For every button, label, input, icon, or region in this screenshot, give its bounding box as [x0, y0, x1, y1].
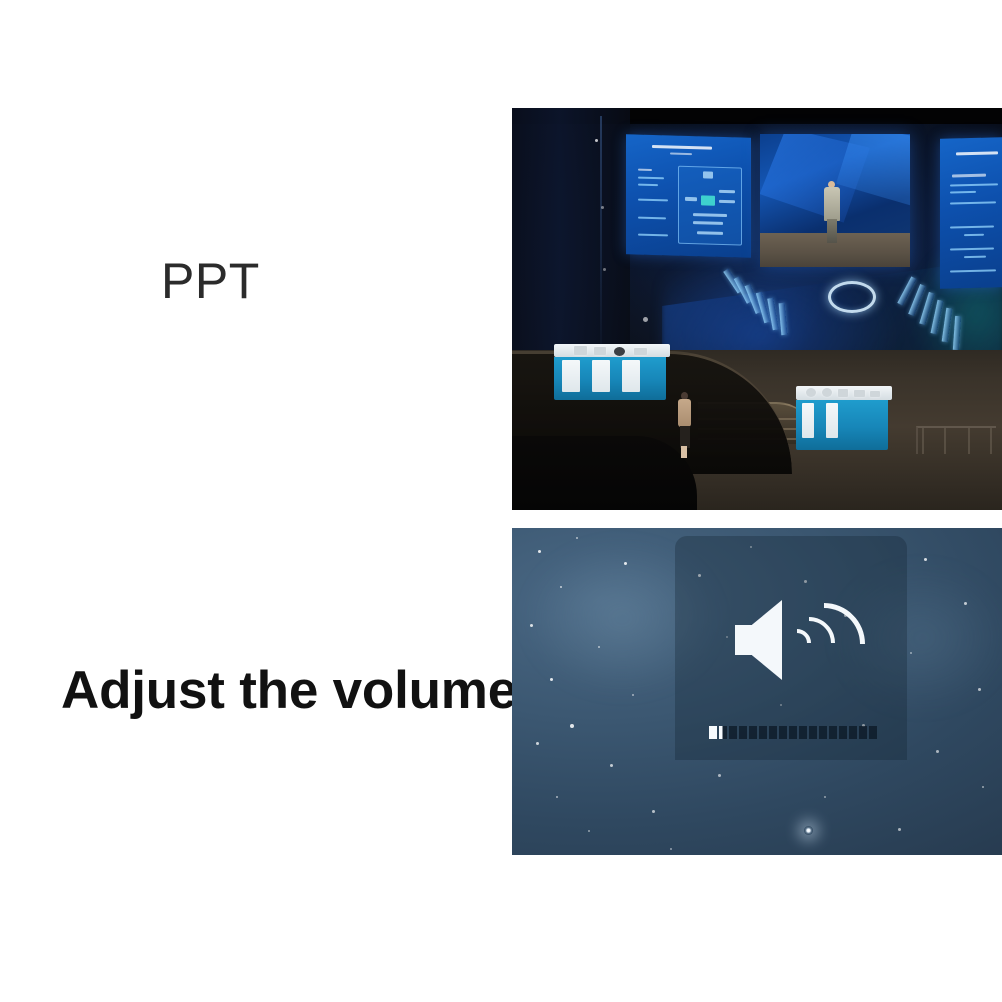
slide-title-line — [670, 152, 692, 155]
volume-segment[interactable] — [739, 726, 747, 739]
demo-device — [634, 348, 647, 355]
demo-table-panel — [622, 360, 640, 392]
slide-bullet-line — [950, 247, 994, 250]
slide-bullet-line — [638, 199, 668, 202]
volume-segment[interactable] — [819, 726, 827, 739]
slide-bullet-line — [638, 184, 658, 187]
slide-title-line — [956, 151, 998, 155]
star — [632, 694, 634, 696]
presenter-torso — [824, 187, 840, 221]
volume-osd-photo — [512, 528, 1002, 855]
demo-device — [614, 347, 625, 356]
star — [982, 786, 984, 788]
diagram-node — [697, 231, 723, 235]
volume-segment[interactable] — [809, 726, 817, 739]
volume-segment[interactable] — [719, 726, 727, 739]
slide-bullet-line — [950, 225, 994, 228]
demo-device — [806, 388, 816, 397]
star — [718, 774, 721, 777]
star — [824, 796, 826, 798]
right-slide-screen — [940, 137, 1002, 289]
diagram-node — [685, 197, 697, 201]
demo-table-surface — [554, 344, 670, 357]
star — [530, 624, 533, 627]
demo-table-panel — [562, 360, 580, 392]
speaker-volume-icon — [735, 598, 857, 682]
star — [936, 750, 939, 753]
person-legs — [681, 446, 687, 458]
star — [538, 550, 541, 553]
star — [610, 764, 613, 767]
stage-presentation-photo — [512, 108, 1002, 510]
star — [550, 678, 553, 681]
demo-table-panel — [802, 403, 814, 438]
diagram-node — [693, 213, 727, 217]
star — [624, 562, 627, 565]
speaker-wave-large-icon — [766, 586, 882, 702]
demo-table-panel — [592, 360, 610, 392]
volume-osd-panel — [675, 536, 907, 760]
stage-ring-light — [828, 281, 876, 313]
star — [570, 724, 574, 728]
page-title-adjust-the-volume: Adjust the volume — [61, 664, 517, 717]
slide-bullet-line — [950, 201, 996, 204]
star — [924, 558, 927, 561]
presenter-legs — [827, 219, 837, 243]
person-skirt — [680, 426, 690, 448]
slide-text-line — [952, 174, 986, 178]
presenter-figure — [824, 181, 840, 243]
demo-device — [822, 388, 832, 397]
slide-bullet-line — [638, 234, 668, 237]
volume-segment[interactable] — [869, 726, 877, 739]
volume-segment[interactable] — [849, 726, 857, 739]
bright-star — [804, 826, 813, 835]
volume-segment[interactable] — [799, 726, 807, 739]
star — [910, 652, 912, 654]
demo-device — [854, 390, 865, 397]
slide-bullet-line — [964, 256, 986, 259]
demo-table-right — [796, 386, 892, 450]
stage-scene — [512, 108, 1002, 510]
slide-diagram-box — [678, 166, 742, 246]
volume-segment[interactable] — [769, 726, 777, 739]
stage-light-speck — [643, 317, 648, 322]
handrail-post — [922, 428, 924, 454]
handrail-post — [968, 428, 970, 454]
speaker-cone — [752, 600, 782, 680]
stage-light-speck — [603, 268, 606, 271]
slide-bullet-line — [950, 183, 998, 186]
slide-bullet-line — [638, 217, 666, 220]
star — [670, 848, 672, 850]
stage-light-speck — [595, 139, 598, 142]
diagram-node — [719, 190, 735, 193]
diagram-node — [703, 171, 713, 178]
star — [898, 828, 901, 831]
demo-device — [594, 347, 606, 355]
volume-segment[interactable] — [839, 726, 847, 739]
diagram-node — [693, 221, 723, 225]
person-on-stage — [677, 392, 692, 458]
handrail-post — [990, 428, 992, 454]
volume-segment[interactable] — [859, 726, 867, 739]
left-slide-screen — [626, 134, 751, 257]
slide-bullet-line — [638, 177, 664, 180]
star — [964, 602, 967, 605]
center-video-screen — [760, 134, 910, 267]
slide-bullet-line — [950, 191, 976, 194]
star — [978, 688, 981, 691]
slide-text-line — [638, 169, 652, 171]
star — [652, 810, 655, 813]
volume-segment[interactable] — [789, 726, 797, 739]
volume-segment[interactable] — [829, 726, 837, 739]
orchestra-pit-shadow — [512, 436, 697, 510]
demo-device — [838, 389, 848, 397]
star — [588, 830, 590, 832]
handrail-post — [944, 428, 946, 454]
star — [560, 586, 562, 588]
stage-light-speck — [601, 206, 604, 209]
person-torso — [678, 399, 691, 427]
diagram-node-highlight — [701, 195, 715, 205]
volume-level-bar[interactable] — [709, 726, 877, 739]
star — [536, 742, 539, 745]
page-title-ppt: PPT — [161, 256, 260, 306]
slide-bullet-line — [950, 269, 996, 272]
slide-bullet-line — [964, 234, 984, 236]
curtain-seam — [600, 116, 602, 366]
demo-device — [870, 391, 880, 397]
volume-segment[interactable] — [729, 726, 737, 739]
demo-table-left — [554, 344, 670, 400]
stage-handrail — [916, 426, 996, 454]
diagram-node — [719, 200, 735, 203]
volume-segment[interactable] — [779, 726, 787, 739]
star — [556, 796, 558, 798]
volume-segment[interactable] — [749, 726, 757, 739]
star — [598, 646, 600, 648]
slide-title-line — [652, 145, 712, 150]
volume-segment[interactable] — [709, 726, 717, 739]
stage-curtain — [512, 108, 630, 376]
demo-table-panel — [826, 403, 838, 438]
volume-segment[interactable] — [759, 726, 767, 739]
star — [576, 537, 578, 539]
demo-device — [574, 346, 587, 355]
